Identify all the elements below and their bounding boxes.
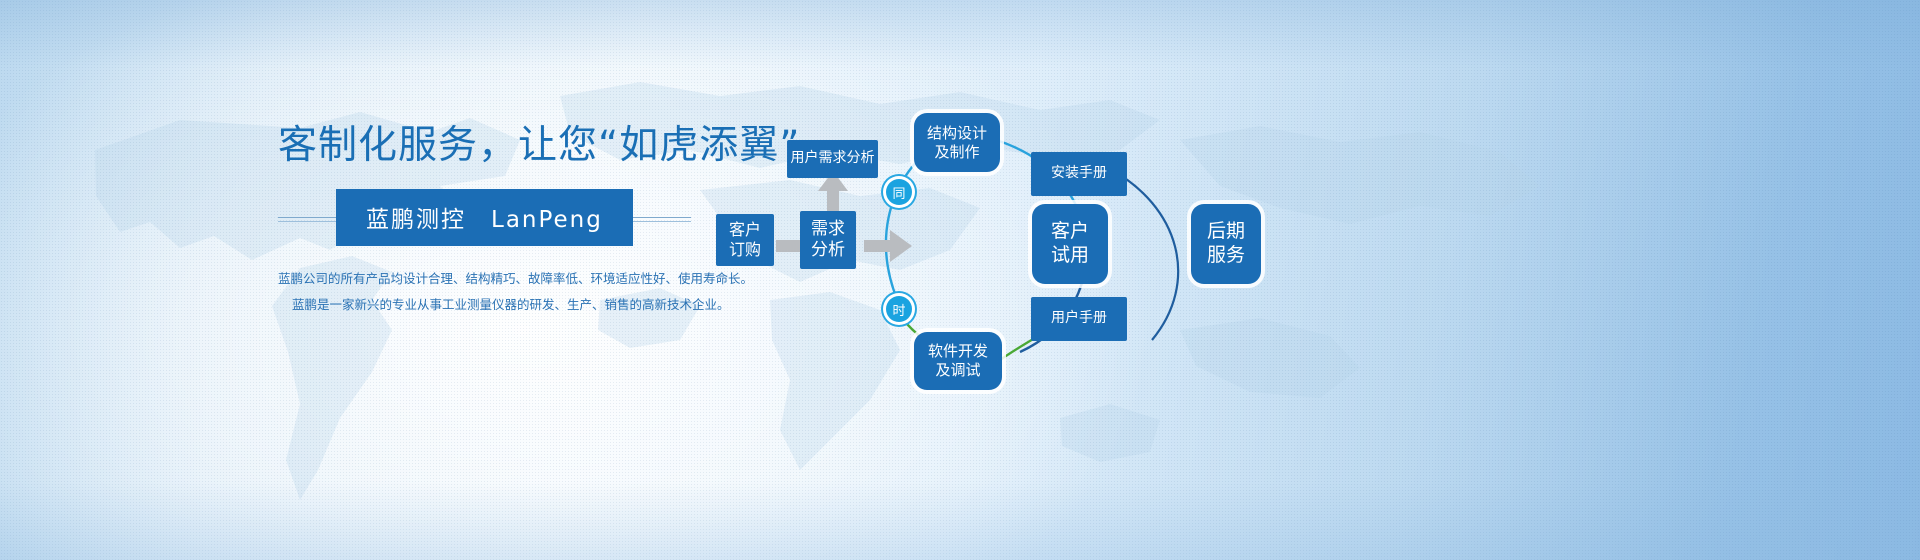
node-label: 用户需求分析: [791, 150, 875, 168]
node-label-line2: 及制作: [927, 143, 987, 162]
badge-shi[interactable]: 时: [886, 296, 912, 322]
node-after-service[interactable]: 后期 服务: [1191, 204, 1261, 284]
node-label-line2: 及调试: [928, 361, 988, 380]
node-label-line1: 后期: [1207, 220, 1245, 244]
node-label-line2: 分析: [811, 240, 845, 261]
node-user-demand-analysis[interactable]: 用户需求分析: [787, 140, 878, 178]
node-label-line1: 需求: [811, 219, 845, 240]
banner-stage: 客制化服务，让您“如虎添翼” 蓝鹏测控 LanPeng 蓝鹏公司的所有产品均设计…: [0, 0, 1920, 560]
node-demand-analysis[interactable]: 需求 分析: [800, 211, 856, 269]
node-structure-design[interactable]: 结构设计 及制作: [914, 113, 1000, 172]
flow-connectors: [0, 0, 1920, 560]
node-label-line2: 试用: [1051, 244, 1089, 268]
node-label-line1: 结构设计: [927, 124, 987, 143]
node-label: 用户手册: [1051, 310, 1107, 328]
node-label-line2: 服务: [1207, 244, 1245, 268]
node-label: 安装手册: [1051, 165, 1107, 183]
process-flow-diagram: 用户需求分析 客户 订购 需求 分析 结构设计 及制作 安装手册 客: [0, 0, 1920, 560]
badge-label: 同: [892, 183, 905, 202]
node-label-line1: 客户: [1051, 220, 1089, 244]
node-customer-trial[interactable]: 客户 试用: [1032, 204, 1108, 284]
node-software-dev[interactable]: 软件开发 及调试: [914, 332, 1002, 390]
node-label-line1: 客户: [729, 220, 761, 240]
node-install-manual[interactable]: 安装手册: [1031, 152, 1127, 196]
node-user-manual[interactable]: 用户手册: [1031, 297, 1127, 341]
node-customer-order[interactable]: 客户 订购: [716, 214, 774, 266]
node-label-line1: 软件开发: [928, 342, 988, 361]
node-label-line2: 订购: [729, 240, 761, 260]
badge-label: 时: [892, 300, 905, 319]
badge-tong[interactable]: 同: [886, 179, 912, 205]
